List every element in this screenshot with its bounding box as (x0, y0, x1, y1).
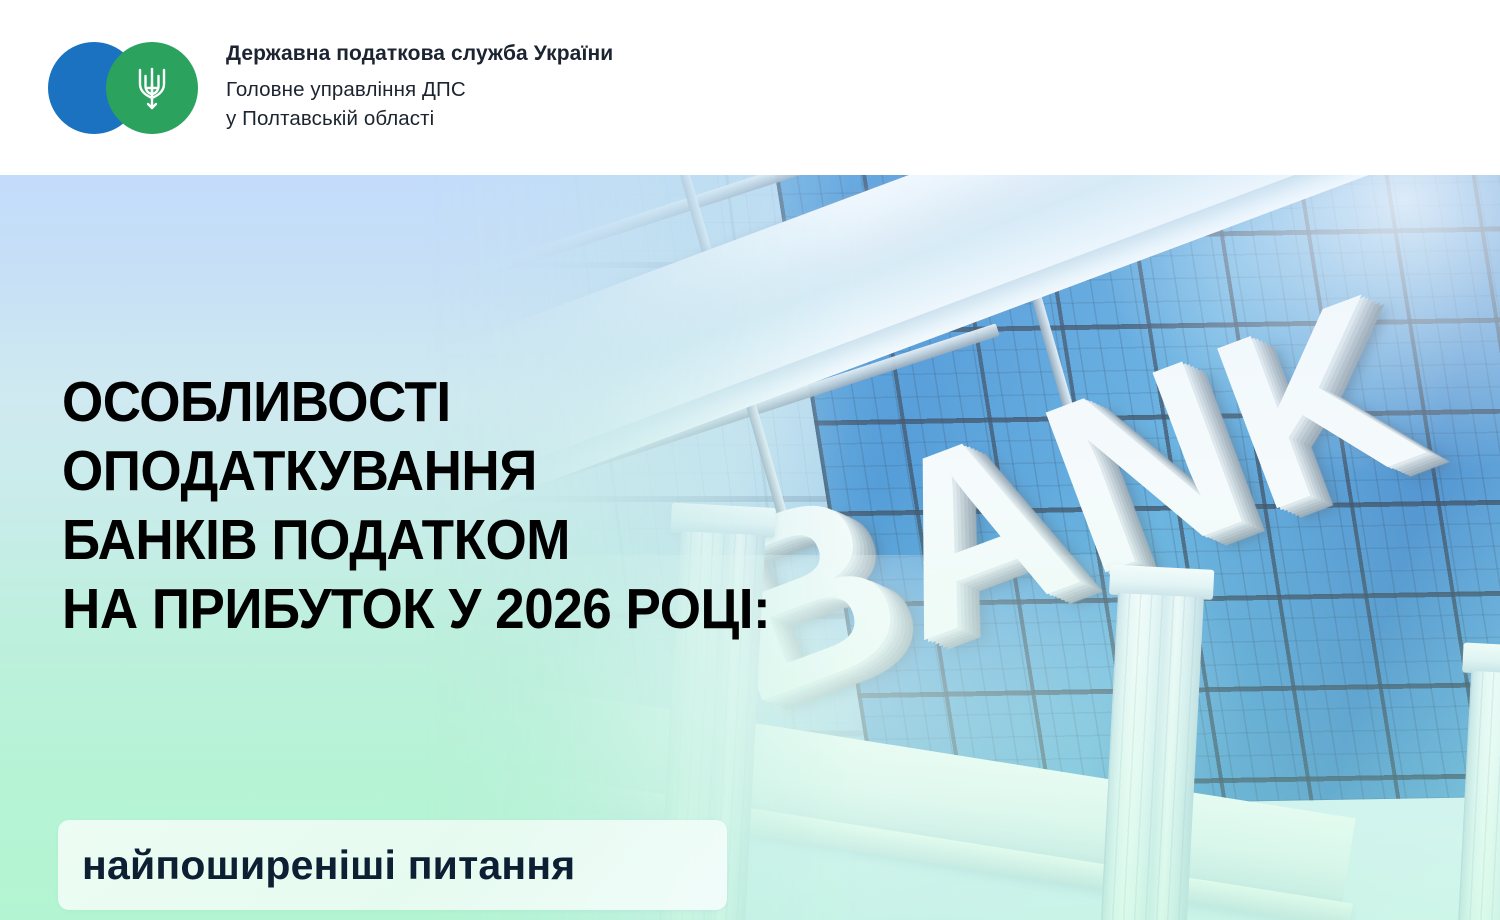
headline-line-2: ОПОДАТКУВАННЯ (62, 437, 825, 506)
headline-line-4: НА ПРИБУТОК У 2026 РОЦІ: (62, 575, 825, 644)
dps-logo (48, 42, 198, 134)
headline-block: ОСОБЛИВОСТІ ОПОДАТКУВАННЯ БАНКІВ ПОДАТКО… (62, 368, 882, 644)
subtitle-text: найпоширеніші питання (82, 842, 575, 889)
org-title-line-1: Державна податкова служба України (226, 40, 846, 68)
poster-canvas: Державна податкова служба України Головн… (0, 0, 1500, 920)
org-title-line-2: Головне управління ДПС (226, 75, 846, 104)
org-title-line-3: у Полтавській області (226, 104, 846, 133)
headline-line-1: ОСОБЛИВОСТІ (62, 368, 825, 437)
subtitle-badge: найпоширеніші питання (58, 820, 727, 910)
headline-line-3: БАНКІВ ПОДАТКОМ (62, 506, 825, 575)
header-bar: Державна податкова служба України Головн… (0, 0, 1500, 175)
org-name-block: Державна податкова служба України Головн… (226, 40, 846, 134)
poster-body: BANK (0, 175, 1500, 920)
ukraine-trident-icon (106, 42, 198, 134)
